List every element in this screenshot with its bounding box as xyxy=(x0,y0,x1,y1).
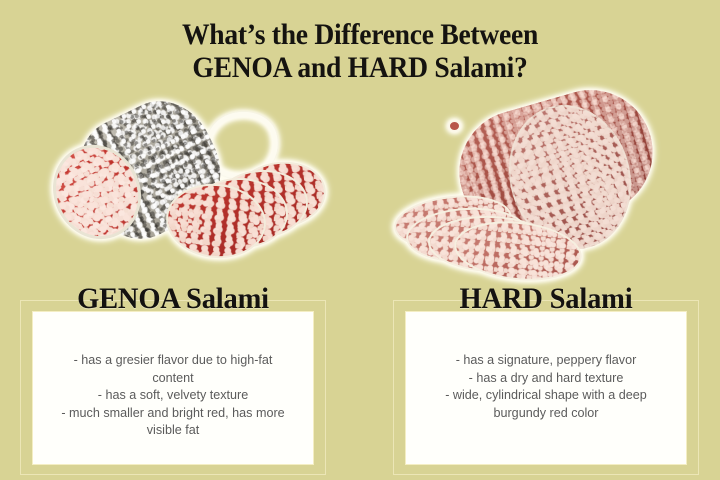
title-line-1: What’s the Difference Between xyxy=(29,18,691,51)
infographic-canvas: What’s the Difference Between GENOA and … xyxy=(0,0,720,480)
genoa-salami-photo xyxy=(38,100,338,295)
panel-bullets-hard: - has a signature, peppery flavor - has … xyxy=(401,352,691,422)
bullet-line: - has a dry and hard texture xyxy=(401,370,691,388)
bullet-line: - wide, cylindrical shape with a deep xyxy=(401,387,691,405)
panel-genoa: GENOA Salami - has a gresier flavor due … xyxy=(20,300,326,475)
bullet-line: - has a gresier flavor due to high-fat xyxy=(28,352,318,370)
bullet-line: content xyxy=(28,370,318,388)
page-title: What’s the Difference Between GENOA and … xyxy=(0,18,720,84)
hard-salami-photo xyxy=(392,98,692,296)
bullet-line: - much smaller and bright red, has more xyxy=(28,405,318,423)
bullet-line: burgundy red color xyxy=(401,405,691,423)
bullet-line: visible fat xyxy=(28,422,318,440)
panel-hard: HARD Salami - has a signature, peppery f… xyxy=(393,300,699,475)
panel-heading-genoa: GENOA Salami xyxy=(28,282,319,316)
bullet-line: - has a signature, peppery flavor xyxy=(401,352,691,370)
panel-bullets-genoa: - has a gresier flavor due to high-fat c… xyxy=(28,352,318,440)
title-line-2: GENOA and HARD Salami? xyxy=(29,51,691,84)
panel-heading-hard: HARD Salami xyxy=(401,282,692,316)
hard-casing-tie xyxy=(448,120,461,132)
bullet-line: - has a soft, velvety texture xyxy=(28,387,318,405)
